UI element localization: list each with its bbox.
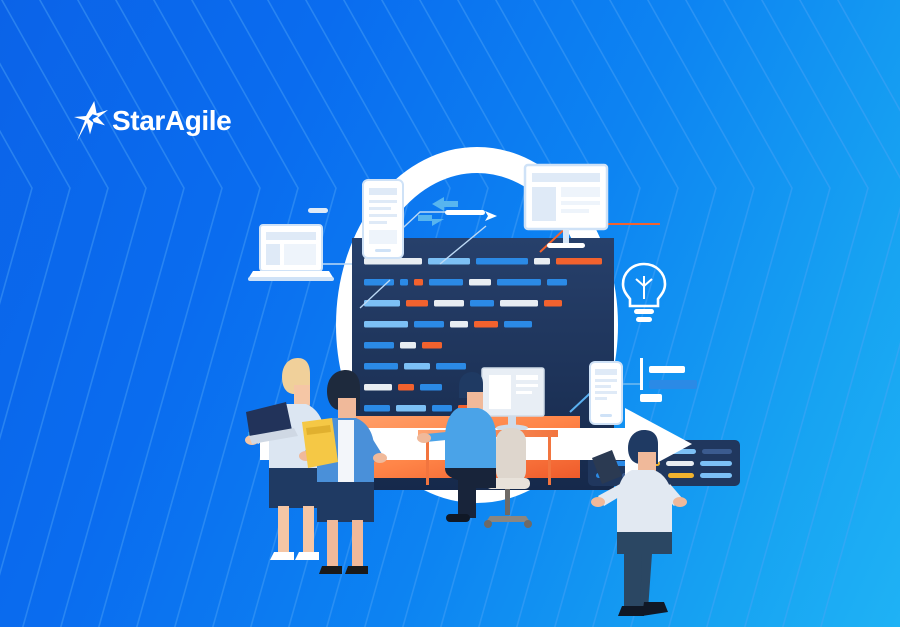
desk-leg: [426, 437, 429, 485]
code-bar: [534, 258, 550, 265]
code-bar: [556, 258, 602, 265]
star-icon: [74, 101, 108, 141]
code-bar: [432, 405, 452, 412]
top-dash-accent: [308, 208, 328, 213]
code-bar: [364, 405, 390, 412]
code-bar: [398, 384, 414, 391]
code-bar: [500, 300, 538, 307]
code-bar: [476, 258, 528, 265]
code-bar: [414, 279, 423, 286]
mobile-phone-icon: [590, 362, 622, 424]
code-bar: [422, 342, 442, 349]
code-bar: [547, 279, 567, 286]
code-bar: [364, 384, 392, 391]
promo-banner: StarAgile: [0, 0, 900, 627]
code-bar: [434, 300, 464, 307]
code-bar: [364, 321, 408, 328]
code-bar: [428, 258, 470, 265]
laptop-device-icon: [248, 225, 334, 281]
devops-illustration: [240, 140, 740, 540]
code-bar: [429, 279, 463, 286]
code-bar: [400, 342, 416, 349]
send-indicator-icon: [445, 210, 497, 221]
code-bar: [364, 342, 394, 349]
code-bar: [400, 279, 408, 286]
code-bar: [404, 363, 430, 370]
code-bar: [474, 321, 498, 328]
tablet-device-icon: [363, 180, 403, 258]
desk-leg-right: [548, 437, 551, 485]
code-bar: [497, 279, 541, 286]
right-widget-bars: [640, 358, 697, 402]
code-bar: [364, 363, 398, 370]
brand-logo-text: StarAgile: [112, 107, 231, 135]
code-bar: [396, 405, 426, 412]
code-bar: [436, 363, 466, 370]
code-bar: [414, 321, 444, 328]
code-bar: [364, 300, 400, 307]
code-bar: [544, 300, 562, 307]
code-bar: [504, 321, 532, 328]
code-bar: [470, 300, 494, 307]
code-bar: [406, 300, 428, 307]
lightbulb-icon: [623, 264, 665, 322]
code-bar: [420, 384, 442, 391]
held-folder: [302, 418, 338, 468]
code-bar: [450, 321, 468, 328]
code-bar: [469, 279, 491, 286]
brand-logo[interactable]: StarAgile: [74, 101, 231, 141]
